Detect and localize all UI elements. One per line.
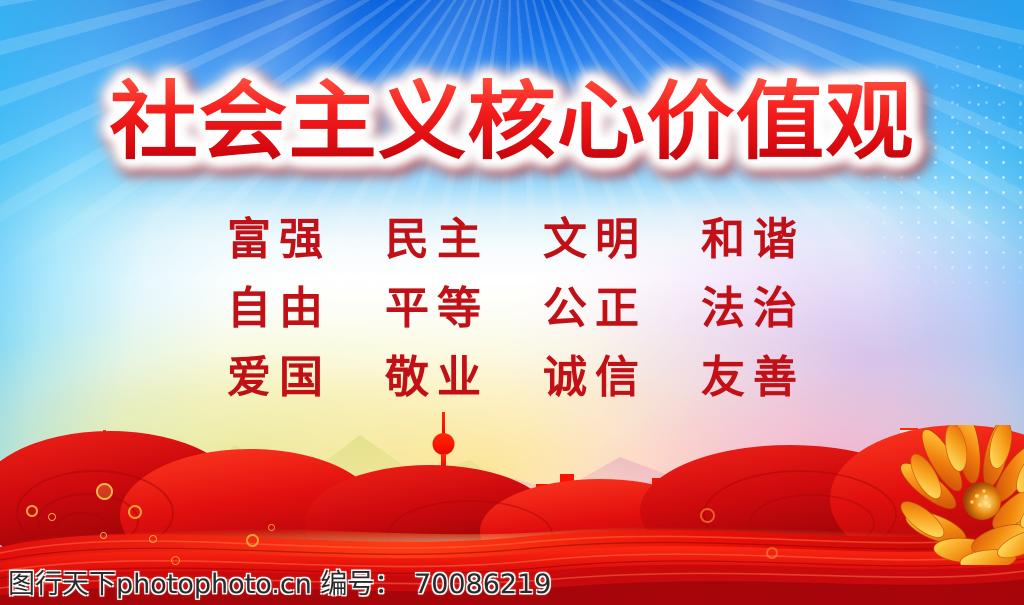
core-value-word: 敬业: [377, 356, 489, 400]
core-values-row: 自由 平等 公正 法治: [0, 287, 1024, 331]
core-value-word: 法治: [693, 287, 805, 331]
watermark: 图行天下photophoto.cn 编号： 70086219: [8, 562, 551, 601]
core-value-word: 富强: [219, 218, 331, 262]
core-value-word: 平等: [377, 287, 489, 331]
core-value-word: 文明: [535, 218, 647, 262]
watermark-id-number: 70086219: [414, 569, 551, 600]
core-value-word: 和谐: [693, 218, 805, 262]
core-values-list: 富强 民主 文明 和谐 自由 平等 公正 法治 爱国 敬业 诚信 友善: [0, 218, 1024, 425]
core-value-word: 爱国: [219, 356, 331, 400]
page-title: 社会主义核心价值观: [110, 78, 915, 168]
core-value-word: 公正: [535, 287, 647, 331]
poster-canvas: 社会主义核心价值观 富强 民主 文明 和谐 自由 平等 公正 法治 爱国 敬业 …: [0, 0, 1024, 605]
watermark-id-label: 编号：: [320, 569, 401, 600]
core-value-word: 自由: [219, 287, 331, 331]
core-values-row: 富强 民主 文明 和谐: [0, 218, 1024, 262]
core-value-word: 友善: [693, 356, 805, 400]
core-values-row: 爱国 敬业 诚信 友善: [0, 356, 1024, 400]
poster-title-container: 社会主义核心价值观: [0, 78, 1024, 168]
core-value-word: 民主: [377, 218, 489, 262]
core-value-word: 诚信: [535, 356, 647, 400]
watermark-site: 图行天下photophoto.cn: [8, 569, 312, 600]
lotus-flower-icon: [880, 425, 1024, 565]
